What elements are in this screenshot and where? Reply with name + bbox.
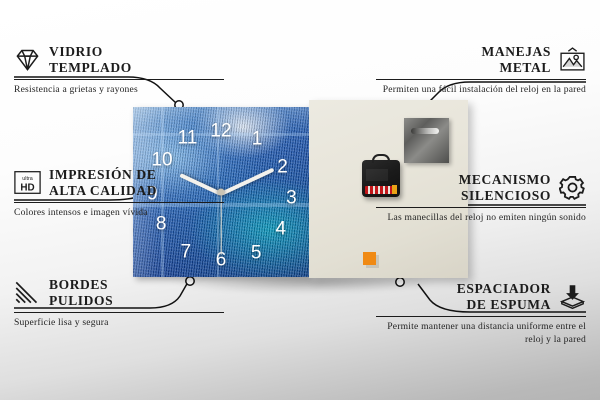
callout-title-line1: ESPACIADOR <box>457 281 551 297</box>
callout-tempered-glass: VIDRIO TEMPLADO Resistencia a grietas y … <box>14 44 224 97</box>
callout-description: Superficie lisa y segura <box>14 317 224 330</box>
callout-divider <box>14 79 224 81</box>
callout-title-line2: TEMPLADO <box>49 60 132 76</box>
diagonal-stripes-icon <box>14 279 41 306</box>
svg-text:HD: HD <box>20 183 34 194</box>
callout-description: Colores intensos e imagen vívida <box>14 207 224 220</box>
callout-description: Resistencia a grietas y rayones <box>14 84 224 97</box>
ultra-hd-icon: ultra HD <box>14 169 41 196</box>
callout-divider <box>14 202 224 204</box>
callout-divider <box>376 79 586 81</box>
callout-polished-edges: BORDES PULIDOS Superficie lisa y segura <box>14 277 224 330</box>
framed-picture-icon <box>559 46 586 73</box>
callout-divider <box>376 316 586 318</box>
diamond-icon <box>14 46 41 73</box>
callout-title-line2: PULIDOS <box>49 293 113 309</box>
clock-numeral-2: 2 <box>277 157 288 176</box>
hanger-slot <box>411 128 439 134</box>
clock-numeral-11: 11 <box>178 128 198 147</box>
clock-numeral-4: 4 <box>276 220 287 239</box>
callout-title-line2: METAL <box>482 60 551 76</box>
callout-description-text: Colores intensos e imagen vívida <box>14 207 148 218</box>
callout-hd-print: ultra HD IMPRESIÓN DE ALTA CALIDAD Color… <box>14 167 224 220</box>
callout-title-line1: BORDES <box>49 277 113 293</box>
callout-description: Permiten una fácil instalación del reloj… <box>376 84 586 97</box>
callout-divider <box>14 312 224 314</box>
callout-title-line1: MECANISMO <box>459 172 551 188</box>
callout-metal-handles: MANEJAS METAL Permiten una fácil instala… <box>376 44 586 97</box>
callout-title-line1: VIDRIO <box>49 44 132 60</box>
callout-title-line2: SILENCIOSO <box>459 188 551 204</box>
callout-divider <box>376 207 586 209</box>
clock-numeral-5: 5 <box>251 244 262 263</box>
metal-hanger-plate <box>404 118 449 163</box>
callout-title-line1: MANEJAS <box>482 44 551 60</box>
callout-title-line2: DE ESPUMA <box>457 297 551 313</box>
clock-numeral-1: 1 <box>252 130 263 149</box>
svg-text:ultra: ultra <box>22 176 32 182</box>
clock-numeral-7: 7 <box>181 242 192 261</box>
callout-description: Permite mantener una distancia uniforme … <box>376 321 586 347</box>
callout-title-line2: ALTA CALIDAD <box>49 183 157 199</box>
callout-title-line1: IMPRESIÓN DE <box>49 167 157 183</box>
callout-foam-spacer: ESPACIADOR DE ESPUMA Permite mantener un… <box>376 281 586 347</box>
callout-description: Las manecillas del reloj no emiten ningú… <box>376 212 586 225</box>
clock-numeral-3: 3 <box>286 188 297 207</box>
infographic-canvas: 12 1 2 3 4 5 6 7 8 9 10 11 <box>0 0 600 400</box>
arrow-down-pad-icon <box>559 283 586 310</box>
clock-numeral-12: 12 <box>210 121 231 140</box>
foam-spacer-pad <box>363 252 376 265</box>
gear-icon <box>559 174 586 201</box>
movement-hanger-loop <box>372 154 390 163</box>
callout-silent-mechanism: MECANISMO SILENCIOSO Las manecillas del … <box>376 172 586 225</box>
